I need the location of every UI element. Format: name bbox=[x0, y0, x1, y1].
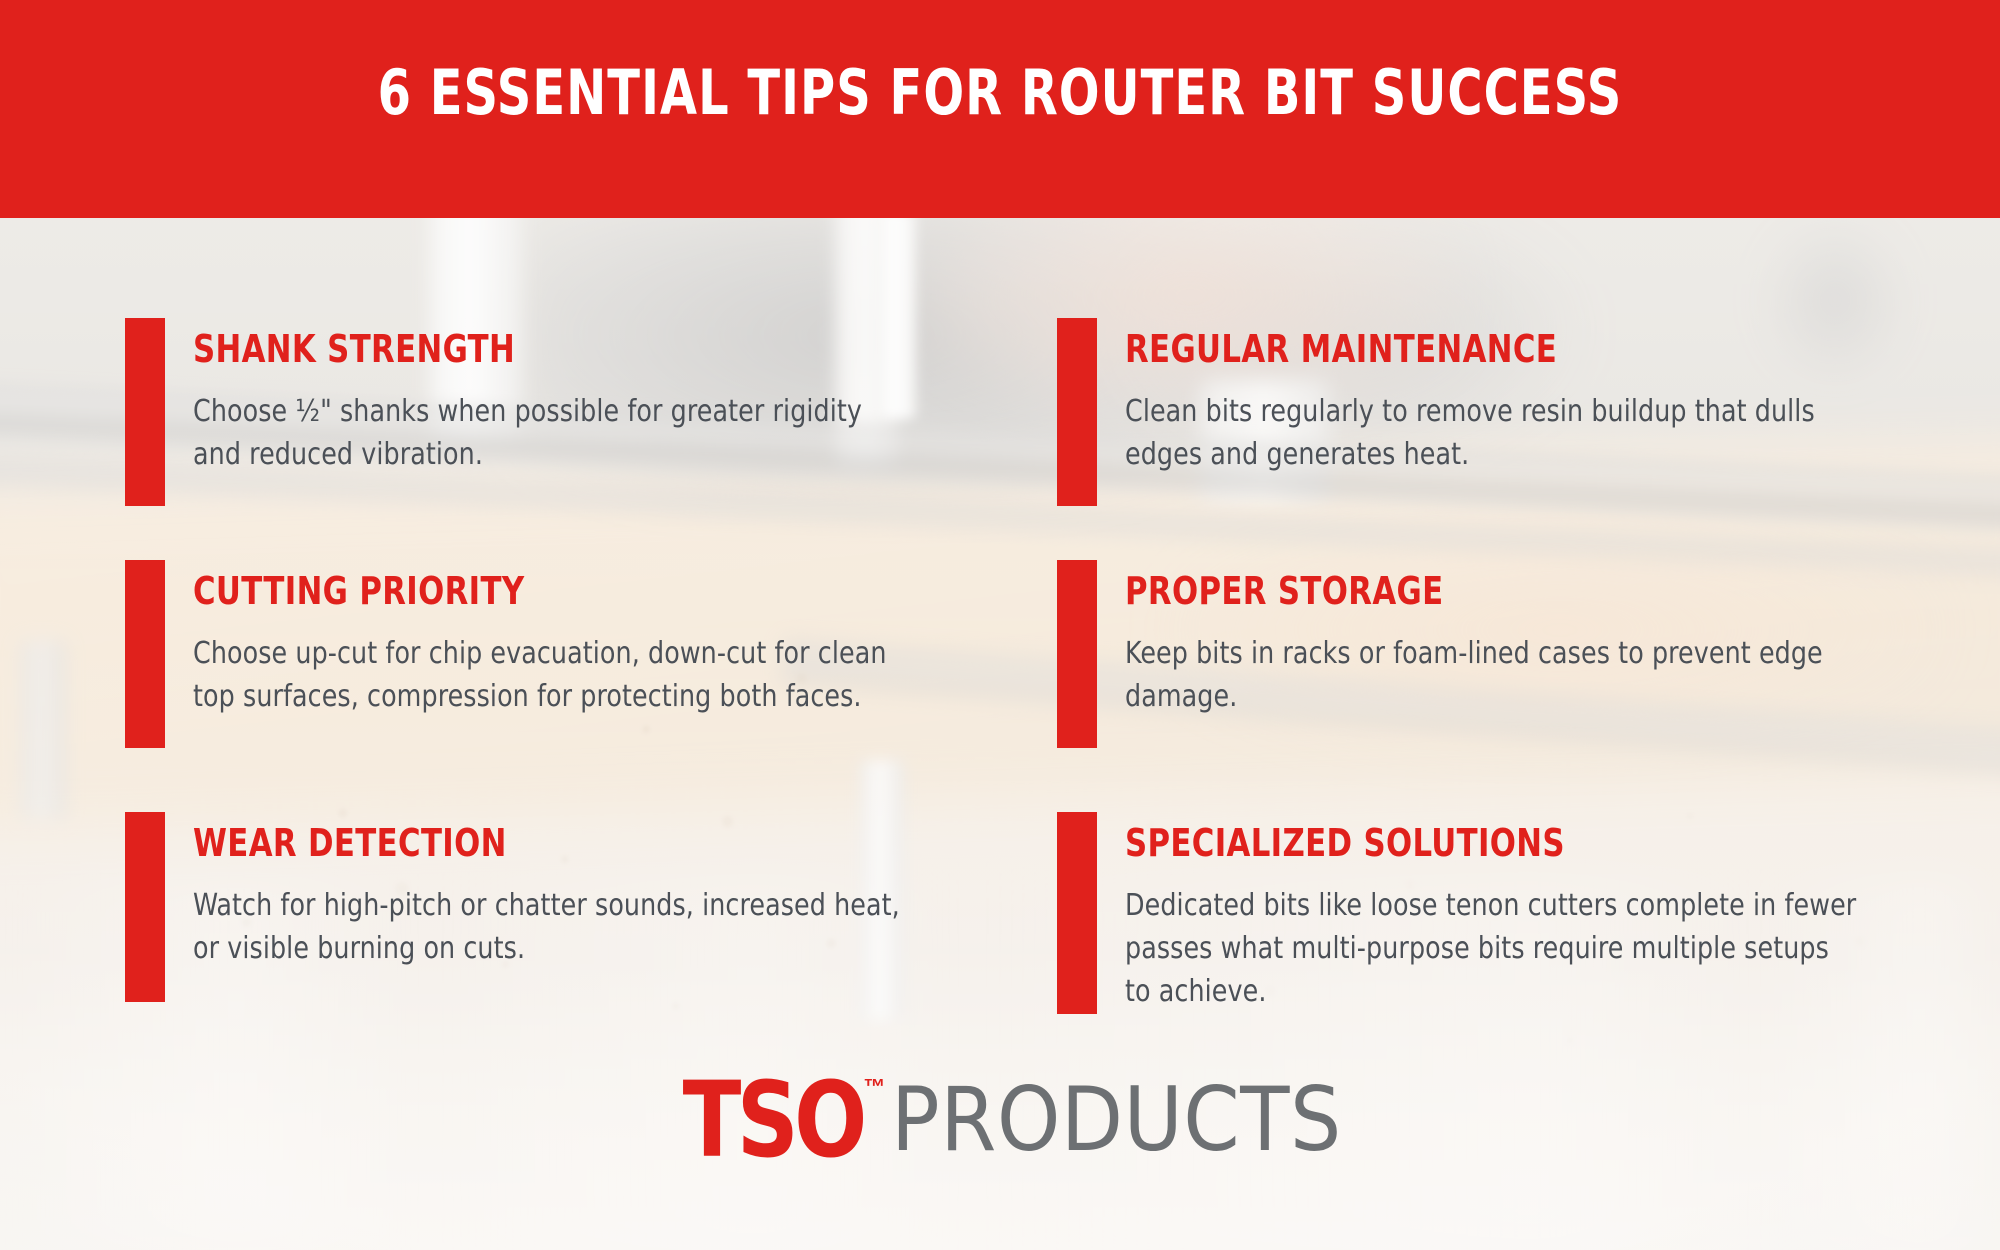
page-title: 6 ESSENTIAL TIPS FOR ROUTER BIT SUCCESS bbox=[140, 62, 1860, 124]
tip-card-shank-strength: SHANK STRENGTH Choose ½" shanks when pos… bbox=[125, 318, 955, 506]
tip-body: SHANK STRENGTH Choose ½" shanks when pos… bbox=[165, 318, 955, 476]
accent-bar-icon bbox=[1057, 560, 1097, 748]
tip-body: SPECIALIZED SOLUTIONS Dedicated bits lik… bbox=[1097, 812, 1907, 1014]
accent-bar-icon bbox=[125, 812, 165, 1002]
tip-body: REGULAR MAINTENANCE Clean bits regularly… bbox=[1097, 318, 1907, 476]
tip-heading: SPECIALIZED SOLUTIONS bbox=[1125, 824, 1829, 862]
tso-products-logo: TSO ™ PRODUCTS bbox=[0, 1060, 2000, 1180]
tip-heading: PROPER STORAGE bbox=[1125, 572, 1829, 610]
tip-card-specialized-solutions: SPECIALIZED SOLUTIONS Dedicated bits lik… bbox=[1057, 812, 1907, 1014]
tip-card-regular-maintenance: REGULAR MAINTENANCE Clean bits regularly… bbox=[1057, 318, 1907, 506]
tip-body: WEAR DETECTION Watch for high-pitch or c… bbox=[165, 812, 955, 970]
tip-heading: REGULAR MAINTENANCE bbox=[1125, 330, 1829, 368]
tip-description: Choose up-cut for chip evacuation, down-… bbox=[193, 632, 909, 718]
tips-grid: SHANK STRENGTH Choose ½" shanks when pos… bbox=[0, 218, 2000, 1018]
tip-card-proper-storage: PROPER STORAGE Keep bits in racks or foa… bbox=[1057, 560, 1907, 748]
tip-description: Watch for high-pitch or chatter sounds, … bbox=[193, 884, 909, 970]
tip-card-wear-detection: WEAR DETECTION Watch for high-pitch or c… bbox=[125, 812, 955, 1002]
tip-body: PROPER STORAGE Keep bits in racks or foa… bbox=[1097, 560, 1907, 718]
infographic-poster: 6 ESSENTIAL TIPS FOR ROUTER BIT SUCCESS … bbox=[0, 0, 2000, 1250]
tip-heading: WEAR DETECTION bbox=[193, 824, 879, 862]
logo-mark-tso: TSO bbox=[682, 1068, 862, 1172]
tip-card-cutting-priority: CUTTING PRIORITY Choose up-cut for chip … bbox=[125, 560, 955, 748]
accent-bar-icon bbox=[1057, 318, 1097, 506]
tip-body: CUTTING PRIORITY Choose up-cut for chip … bbox=[165, 560, 955, 718]
tip-heading: CUTTING PRIORITY bbox=[193, 572, 879, 610]
tip-description: Keep bits in racks or foam-lined cases t… bbox=[1125, 632, 1860, 718]
accent-bar-icon bbox=[1057, 812, 1097, 1014]
tip-heading: SHANK STRENGTH bbox=[193, 330, 879, 368]
trademark-icon: ™ bbox=[863, 1076, 885, 1098]
accent-bar-icon bbox=[125, 560, 165, 748]
tip-description: Choose ½" shanks when possible for great… bbox=[193, 390, 909, 476]
logo-wordmark-products: PRODUCTS bbox=[891, 1076, 1342, 1164]
accent-bar-icon bbox=[125, 318, 165, 506]
header-banner: 6 ESSENTIAL TIPS FOR ROUTER BIT SUCCESS bbox=[0, 0, 2000, 218]
tip-description: Dedicated bits like loose tenon cutters … bbox=[1125, 884, 1860, 1014]
tip-description: Clean bits regularly to remove resin bui… bbox=[1125, 390, 1860, 476]
